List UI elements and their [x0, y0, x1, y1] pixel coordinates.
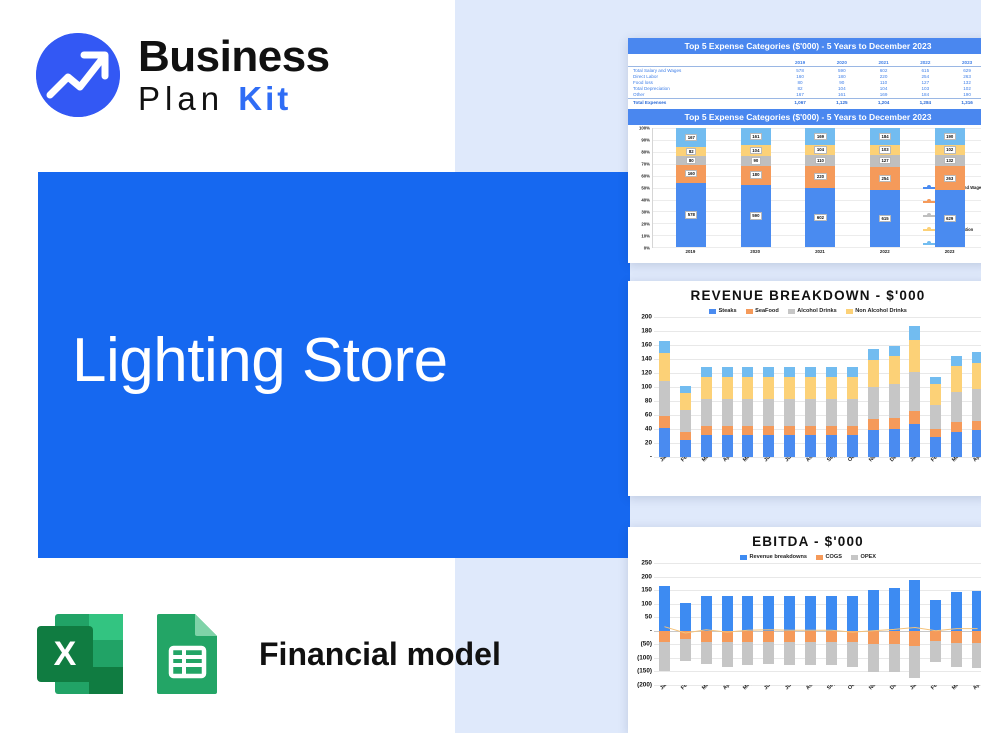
- table-cell-value: 615: [904, 67, 946, 74]
- bar-segment: 161: [741, 128, 771, 145]
- expense-banner-top: Top 5 Expense Categories ($'000) - 5 Yea…: [628, 38, 981, 54]
- bar-segment: [826, 367, 837, 376]
- table-row: Total Salary and Wages578590602615629: [628, 67, 981, 74]
- bar-value-label: 127: [879, 157, 891, 164]
- bar-segment: [930, 437, 941, 457]
- bar-segment: 102: [935, 145, 965, 154]
- bar-segment: [722, 367, 733, 376]
- bar-segment: [868, 387, 879, 419]
- bar-segment: [701, 435, 712, 457]
- legend-label: OPEX: [860, 554, 876, 560]
- bar-segment: [805, 435, 816, 457]
- bar-column: [805, 317, 816, 457]
- axis-tick-label: 100%: [639, 126, 650, 131]
- legend-swatch: [923, 243, 935, 245]
- bar-segment: [930, 384, 941, 405]
- footer-label: Financial model: [259, 636, 501, 673]
- bar-column: [847, 317, 858, 457]
- table-cell-label: Total Salary and Wages: [628, 67, 779, 74]
- axis-tick-label: -: [650, 454, 652, 461]
- ebitda-chart-plot: [654, 563, 981, 685]
- axis-tick-label: 180: [641, 328, 652, 335]
- bar-column: [701, 317, 712, 457]
- bar-segment: [909, 340, 920, 372]
- bar-value-label: 602: [814, 214, 826, 221]
- bar-segment: [680, 393, 691, 411]
- bar-segment: [680, 432, 691, 440]
- card-revenue-breakdown: REVENUE BREAKDOWN - $'000 SteaksSeaFoodA…: [628, 281, 981, 496]
- logo-text-business: Business: [138, 35, 330, 79]
- axis-tick-label: 30%: [641, 210, 650, 215]
- bar-value-label: 102: [944, 146, 956, 153]
- bar-segment: [847, 435, 858, 457]
- bar-segment: [972, 352, 981, 363]
- bar-value-label: 615: [879, 215, 891, 222]
- legend-swatch: [923, 229, 935, 231]
- bar-segment: [680, 386, 691, 393]
- table-cell-value: 578: [779, 67, 821, 74]
- expense-chart-y-axis: 100%90%80%70%60%50%40%30%20%10%0%: [628, 128, 652, 248]
- table-col-header: 2020: [821, 59, 863, 67]
- table-cell-value: 167: [779, 92, 821, 99]
- bar-segment: [701, 399, 712, 426]
- axis-tick-label: 50: [645, 614, 652, 621]
- legend-swatch: [846, 309, 853, 314]
- bar-segment: 90: [741, 156, 771, 166]
- legend-label: Non Alcohol Drinks: [855, 308, 907, 314]
- axis-tick-label: 90%: [641, 138, 650, 143]
- axis-tick-label: 0%: [644, 246, 650, 251]
- bar-segment: [889, 356, 900, 384]
- axis-tick-label: 2022: [870, 249, 900, 254]
- table-col-header: 2022: [904, 59, 946, 67]
- revenue-chart-legend: SteaksSeaFoodAlcohol DrinksNon Alcohol D…: [628, 308, 981, 314]
- bar-segment: [701, 377, 712, 399]
- axis-tick-label: (150): [637, 668, 652, 675]
- bar-segment: [909, 326, 920, 340]
- bar-segment: [847, 377, 858, 399]
- bar-value-label: 160: [685, 170, 697, 177]
- legend-swatch: [923, 215, 935, 217]
- bar-value-label: 190: [944, 133, 956, 140]
- bar-segment: [659, 353, 670, 382]
- axis-tick-label: 250: [641, 560, 652, 567]
- bar-segment: [659, 381, 670, 416]
- bar-column: 169104110220602: [805, 128, 835, 247]
- bar-segment: 169: [805, 128, 835, 145]
- bar-value-label: 590: [750, 212, 762, 219]
- bar-segment: [784, 435, 795, 457]
- ebitda-chart-legend: Revenue breakdownsCOGSOPEX: [628, 554, 981, 560]
- axis-tick-label: 20%: [641, 222, 650, 227]
- bar-value-label: 629: [944, 215, 956, 222]
- ebitda-trend-line: [654, 563, 981, 685]
- bar-value-label: 82: [686, 148, 696, 155]
- bar-segment: 104: [805, 145, 835, 155]
- legend-swatch: [851, 555, 858, 560]
- revenue-chart-title: REVENUE BREAKDOWN - $'000: [628, 288, 981, 303]
- card-ebitda: EBITDA - $'000 Revenue breakdownsCOGSOPE…: [628, 527, 981, 733]
- bar-segment: 80: [676, 156, 706, 165]
- expense-table: 20192020202120222023 Total Salary and Wa…: [628, 59, 981, 105]
- table-cell-value: 161: [821, 92, 863, 99]
- bar-segment: [972, 389, 981, 421]
- table-cell-value: 190: [946, 92, 981, 99]
- logo-text-plan: Plan: [138, 80, 224, 117]
- legend-label: COGS: [825, 554, 841, 560]
- bar-value-label: 132: [944, 157, 956, 164]
- axis-tick-label: (200): [637, 682, 652, 689]
- bar-segment: [951, 366, 962, 392]
- bar-value-label: 578: [685, 211, 697, 218]
- bar-segment: 132: [935, 155, 965, 167]
- axis-tick-label: Apr-20: [972, 685, 981, 691]
- legend-swatch: [746, 309, 753, 314]
- bar-segment: [909, 424, 920, 457]
- legend-item: Non Alcohol Drinks: [846, 308, 907, 314]
- expense-100pct-chart: 100%90%80%70%60%50%40%30%20%10%0% 167828…: [628, 128, 981, 248]
- revenue-chart-y-axis: 20018016014012010080604020-: [628, 317, 654, 457]
- legend-swatch: [740, 555, 747, 560]
- table-col-header: 2021: [863, 59, 905, 67]
- axis-tick-label: 2019: [675, 249, 705, 254]
- bar-segment: [701, 426, 712, 434]
- table-row: Other167161169184190: [628, 92, 981, 99]
- bar-segment: 160: [676, 165, 706, 183]
- bar-segment: 590: [741, 185, 771, 247]
- bar-segment: [659, 341, 670, 353]
- axis-tick-label: 10%: [641, 234, 650, 239]
- bar-segment: [680, 440, 691, 458]
- axis-tick-label: -: [650, 627, 652, 634]
- table-col-header: 2023: [946, 59, 981, 67]
- table-cell-value: 184: [904, 92, 946, 99]
- bar-segment: [763, 367, 774, 376]
- bar-value-label: 169: [814, 133, 826, 140]
- bar-segment: [972, 363, 981, 390]
- axis-tick-label: 120: [641, 370, 652, 377]
- bar-segment: [930, 429, 941, 437]
- bar-segment: [742, 435, 753, 457]
- bar-segment: [951, 432, 962, 457]
- legend-swatch: [709, 309, 716, 314]
- table-cell-value: 590: [821, 67, 863, 74]
- bar-segment: [909, 411, 920, 424]
- table-cell-label: Other: [628, 92, 779, 99]
- legend-label: Alcohol Drinks: [797, 308, 836, 314]
- bar-segment: 578: [676, 183, 706, 247]
- table-cell-label: Total Expenses: [628, 98, 779, 105]
- bar-value-label: 104: [750, 147, 762, 154]
- bar-column: [722, 317, 733, 457]
- ebitda-chart-title: EBITDA - $'000: [628, 534, 981, 549]
- bar-value-label: 254: [879, 175, 891, 182]
- bar-segment: [847, 399, 858, 426]
- bar-column: [763, 317, 774, 457]
- table-cell-value: 1,284: [904, 98, 946, 105]
- table-cell-value: 602: [863, 67, 905, 74]
- axis-tick-label: 40: [645, 426, 652, 433]
- bar-segment: 103: [870, 145, 900, 155]
- bar-segment: [889, 418, 900, 429]
- bar-value-label: 80: [686, 157, 696, 164]
- revenue-chart-plot: [654, 317, 981, 457]
- table-col-header: [628, 59, 779, 67]
- bar-segment: [805, 367, 816, 376]
- axis-tick-label: 2020: [740, 249, 770, 254]
- bar-segment: [972, 430, 981, 457]
- bar-column: [742, 317, 753, 457]
- table-cell-value: 169: [863, 92, 905, 99]
- bar-column: [972, 317, 981, 457]
- bar-segment: [742, 367, 753, 376]
- table-cell-value: 1,067: [779, 98, 821, 105]
- bar-segment: [868, 349, 879, 360]
- bar-segment: [784, 426, 795, 434]
- bar-segment: 180: [741, 166, 771, 185]
- bar-segment: 629: [935, 190, 965, 247]
- bar-segment: [951, 356, 962, 367]
- table-cell-value: 1,125: [821, 98, 863, 105]
- expense-banner-mid: Top 5 Expense Categories ($'000) - 5 Yea…: [628, 109, 981, 125]
- bar-segment: [847, 426, 858, 434]
- axis-tick-label: 100: [641, 384, 652, 391]
- bar-segment: [930, 377, 941, 385]
- axis-tick-label: 60%: [641, 174, 650, 179]
- bar-segment: [763, 377, 774, 399]
- legend-label: SeaFood: [755, 308, 779, 314]
- bar-segment: [701, 367, 712, 376]
- growth-arrow-icon: [36, 33, 120, 117]
- page-title: Lighting Store: [72, 325, 448, 396]
- bar-value-label: 184: [879, 133, 891, 140]
- bar-segment: 127: [870, 155, 900, 167]
- bar-segment: [805, 377, 816, 399]
- axis-tick-label: 40%: [641, 198, 650, 203]
- bar-segment: [784, 399, 795, 426]
- table-col-header: 2019: [779, 59, 821, 67]
- bar-segment: 104: [741, 145, 771, 156]
- axis-tick-label: 150: [641, 587, 652, 594]
- bar-segment: [784, 377, 795, 399]
- axis-tick-label: 80%: [641, 150, 650, 155]
- bar-segment: [722, 377, 733, 399]
- legend-item: OPEX: [851, 554, 876, 560]
- bar-segment: [680, 410, 691, 432]
- bar-segment: 190: [935, 128, 965, 145]
- axis-tick-label: 100: [641, 600, 652, 607]
- bar-segment: 82: [676, 147, 706, 156]
- bar-segment: [868, 360, 879, 387]
- axis-tick-label: 20: [645, 440, 652, 447]
- table-header-row: 20192020202120222023: [628, 59, 981, 67]
- bar-column: [826, 317, 837, 457]
- bar-segment: [742, 399, 753, 426]
- bar-column: 184103127254615: [870, 128, 900, 247]
- axis-tick-label: 70%: [641, 162, 650, 167]
- bar-value-label: 263: [944, 175, 956, 182]
- bar-column: 190102132263629: [935, 128, 965, 247]
- bar-column: [784, 317, 795, 457]
- card-expense-categories: Top 5 Expense Categories ($'000) - 5 Yea…: [628, 38, 981, 263]
- axis-tick-label: (100): [637, 654, 652, 661]
- bar-segment: [659, 416, 670, 427]
- bar-segment: [763, 399, 774, 426]
- bar-segment: [722, 399, 733, 426]
- bar-segment: [889, 384, 900, 418]
- bar-value-label: 90: [751, 157, 761, 164]
- axis-tick-label: (50): [641, 641, 652, 648]
- bar-segment: 615: [870, 190, 900, 247]
- bar-segment: [784, 367, 795, 376]
- table-cell-value: 1,316: [946, 98, 981, 105]
- bar-column: [909, 317, 920, 457]
- bar-value-label: 110: [815, 157, 827, 164]
- bar-column: [951, 317, 962, 457]
- axis-tick-label: 200: [641, 314, 652, 321]
- bar-segment: 167: [676, 128, 706, 147]
- bar-column: [680, 317, 691, 457]
- table-cell-value: 629: [946, 67, 981, 74]
- bar-value-label: 180: [750, 171, 762, 178]
- legend-swatch: [816, 555, 823, 560]
- bar-segment: [909, 372, 920, 411]
- bar-segment: [722, 435, 733, 457]
- bar-segment: [868, 419, 879, 431]
- logo-text-kit: Kit: [238, 80, 291, 117]
- bar-segment: [930, 405, 941, 429]
- bar-value-label: 161: [750, 133, 762, 140]
- legend-swatch: [923, 187, 935, 189]
- axis-tick-label: 200: [641, 573, 652, 580]
- ebitda-chart-x-axis: Jan-19Feb-19Mar-19Apr-19May-19Jun-19Jul-…: [654, 685, 981, 715]
- bar-segment: [847, 367, 858, 376]
- axis-tick-label: Apr-20: [972, 457, 981, 463]
- google-sheets-icon: [151, 612, 225, 696]
- axis-tick-label: 140: [641, 356, 652, 363]
- bar-segment: [826, 377, 837, 399]
- footer-format-row: X Financial model: [35, 612, 501, 696]
- bar-segment: [868, 430, 879, 457]
- bar-value-label: 167: [685, 134, 697, 141]
- bar-segment: [826, 435, 837, 457]
- bar-segment: [763, 435, 774, 457]
- bar-value-label: 103: [879, 146, 891, 153]
- legend-swatch: [788, 309, 795, 314]
- bar-segment: [889, 429, 900, 457]
- bar-value-label: 104: [814, 146, 826, 153]
- table-cell-value: 1,204: [863, 98, 905, 105]
- axis-tick-label: 80: [645, 398, 652, 405]
- bar-segment: [742, 426, 753, 434]
- bar-segment: [951, 392, 962, 422]
- bar-segment: [805, 426, 816, 434]
- bar-column: 1678280160578: [676, 128, 706, 247]
- bar-segment: 110: [805, 155, 835, 166]
- legend-item: Steaks: [709, 308, 737, 314]
- legend-swatch: [923, 201, 935, 203]
- bar-segment: [951, 422, 962, 432]
- bar-value-label: 220: [814, 173, 826, 180]
- bar-segment: [805, 399, 816, 426]
- bar-segment: [889, 346, 900, 357]
- bar-segment: [722, 426, 733, 434]
- bar-column: [868, 317, 879, 457]
- bar-column: 16110490180590: [741, 128, 771, 247]
- ebitda-chart-y-axis: 25020015010050-(50)(100)(150)(200): [628, 563, 654, 685]
- bar-segment: 184: [870, 128, 900, 145]
- legend-item: Revenue breakdowns: [740, 554, 807, 560]
- bar-segment: [763, 426, 774, 434]
- bar-column: [889, 317, 900, 457]
- bar-segment: 254: [870, 167, 900, 191]
- axis-tick-label: 60: [645, 412, 652, 419]
- legend-item: COGS: [816, 554, 842, 560]
- axis-tick-label: 160: [641, 342, 652, 349]
- bar-segment: 263: [935, 166, 965, 190]
- legend-item: Alcohol Drinks: [788, 308, 837, 314]
- bar-segment: 220: [805, 166, 835, 188]
- revenue-chart-x-axis: Jan-19Feb-19Mar-19Apr-19May-19Jun-19Jul-…: [654, 457, 981, 491]
- brand-logo: Business Plan Kit: [36, 33, 330, 117]
- legend-label: Steaks: [719, 308, 737, 314]
- axis-tick-label: 2021: [805, 249, 835, 254]
- svg-text:X: X: [54, 635, 77, 673]
- table-total-row: Total Expenses1,0671,1251,2041,2841,316: [628, 98, 981, 105]
- bar-column: [659, 317, 670, 457]
- legend-item: SeaFood: [746, 308, 779, 314]
- bar-column: [930, 317, 941, 457]
- axis-tick-label: 50%: [641, 186, 650, 191]
- microsoft-excel-icon: X: [35, 612, 125, 696]
- bar-segment: [742, 377, 753, 399]
- legend-label: Revenue breakdowns: [749, 554, 807, 560]
- bar-segment: [826, 399, 837, 426]
- bar-segment: [826, 426, 837, 434]
- bar-segment: [972, 421, 981, 431]
- bar-segment: 602: [805, 188, 835, 247]
- bar-segment: [659, 428, 670, 457]
